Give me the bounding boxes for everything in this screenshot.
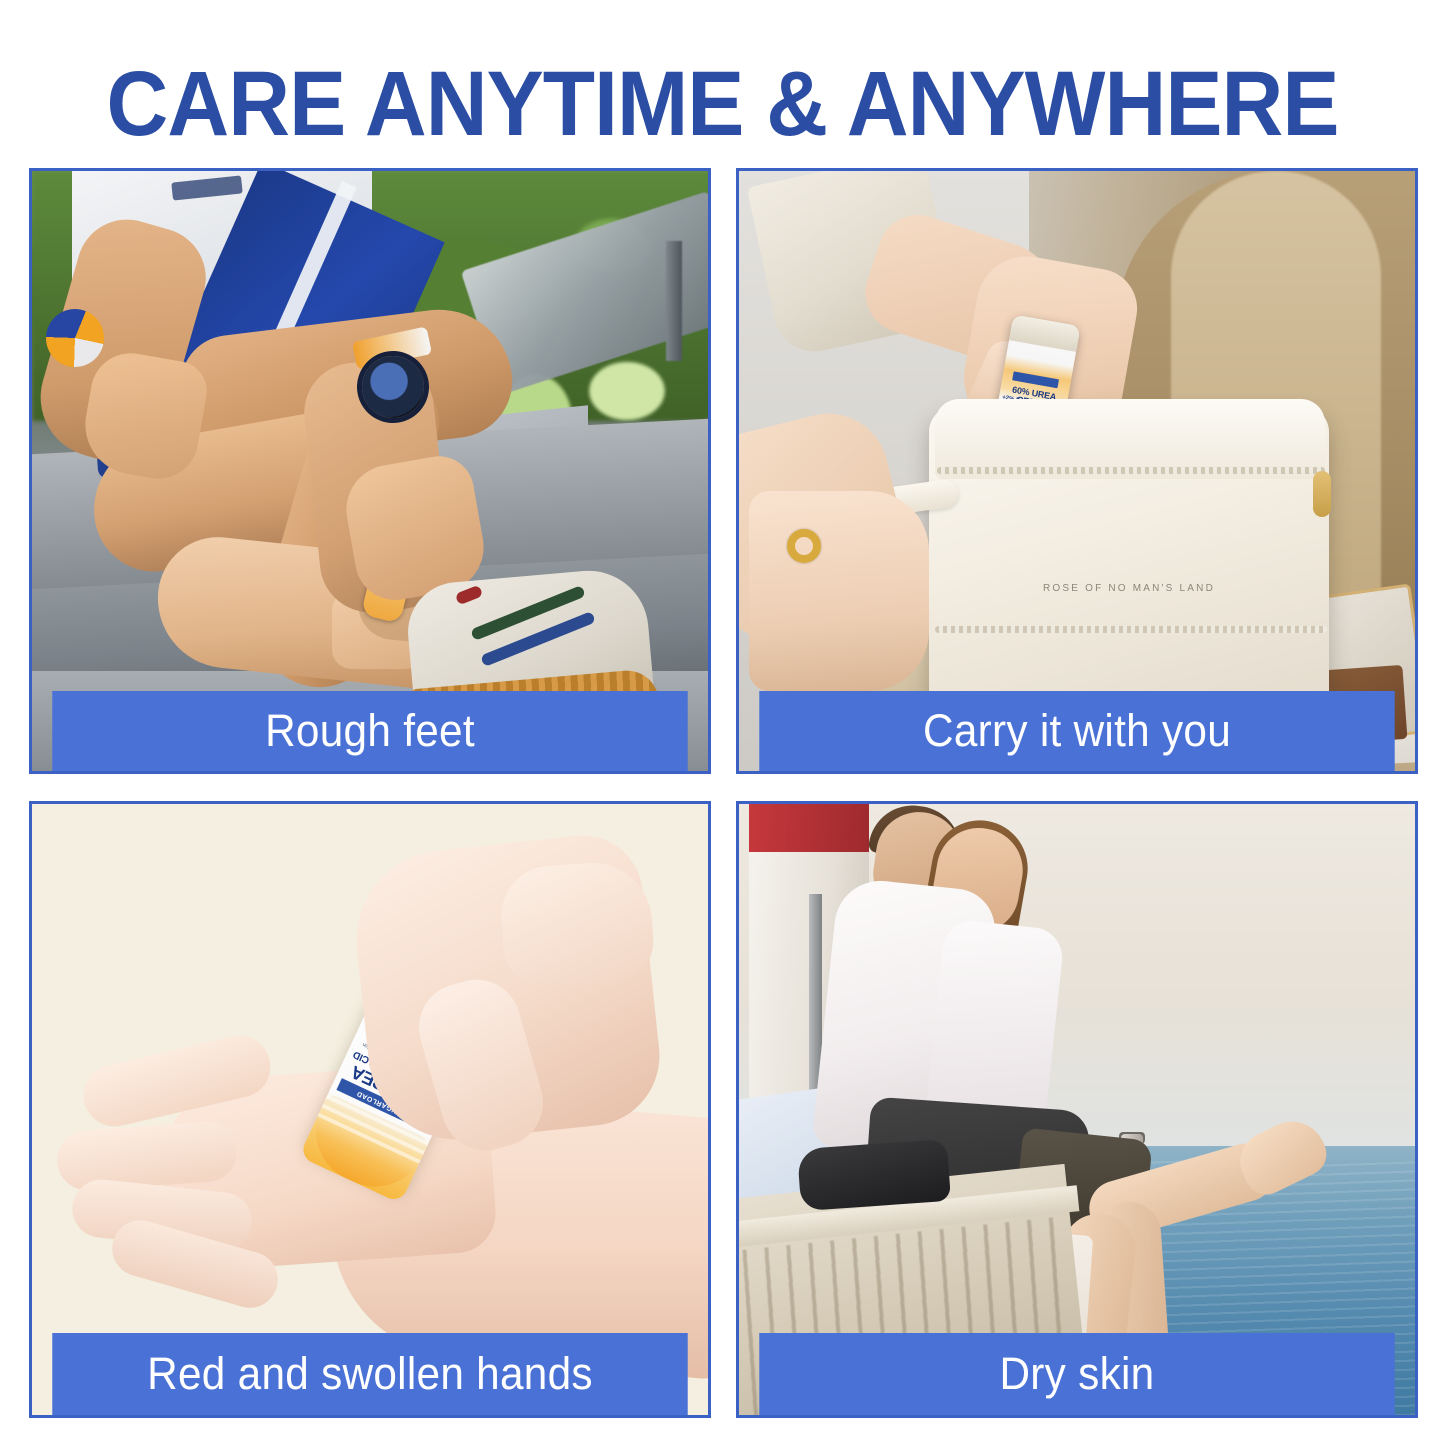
scene-toiletry-bag: 60% UREA CREAM +2% SALICYLIC ACID NET:40… [739, 171, 1415, 771]
scene-couple-on-pier [739, 804, 1415, 1415]
panel-rough-feet[interactable]: Rough feet [29, 168, 711, 774]
finger-middle [55, 1120, 239, 1192]
panel-caption-rough-feet: Rough feet [52, 691, 687, 771]
bag-zipper-top [937, 467, 1325, 474]
panel-dry-skin[interactable]: Dry skin [736, 801, 1418, 1418]
product-infographic: CARE ANYTIME & ANYWHERE [0, 0, 1445, 1445]
woman-white-blouse [925, 918, 1065, 1129]
handrail-post [666, 241, 682, 361]
bag-zipper-bottom [935, 626, 1327, 633]
feature-grid: Rough feet 60% UREA CREAM +2% SALICYLIC … [29, 168, 1418, 1418]
gold-ring [787, 529, 821, 563]
bag-embossed-text: ROSE OF NO MAN'S LAND [929, 583, 1329, 594]
panel-carry-it-with-you[interactable]: 60% UREA CREAM +2% SALICYLIC ACID NET:40… [736, 168, 1418, 774]
panel-caption-carry-it-with-you: Carry it with you [759, 691, 1394, 771]
hand-holding-handle [749, 491, 929, 691]
panel-caption-dry-skin: Dry skin [759, 1333, 1394, 1415]
scene-hand-application: CHANGARLOAD 60% UREA CREAM +2% SALICYLIC… [32, 804, 708, 1415]
knuckles [498, 859, 656, 989]
zipper-pull [1313, 471, 1331, 517]
panel-caption-red-and-swollen-hands: Red and swollen hands [52, 1333, 687, 1415]
panel-red-and-swollen-hands[interactable]: CHANGARLOAD 60% UREA CREAM +2% SALICYLIC… [29, 801, 711, 1418]
scene-rough-feet [32, 171, 708, 771]
mens-shoes [797, 1139, 951, 1211]
page-title: CARE ANYTIME & ANYWHERE [51, 56, 1395, 152]
lighthouse-red-band [749, 804, 869, 852]
